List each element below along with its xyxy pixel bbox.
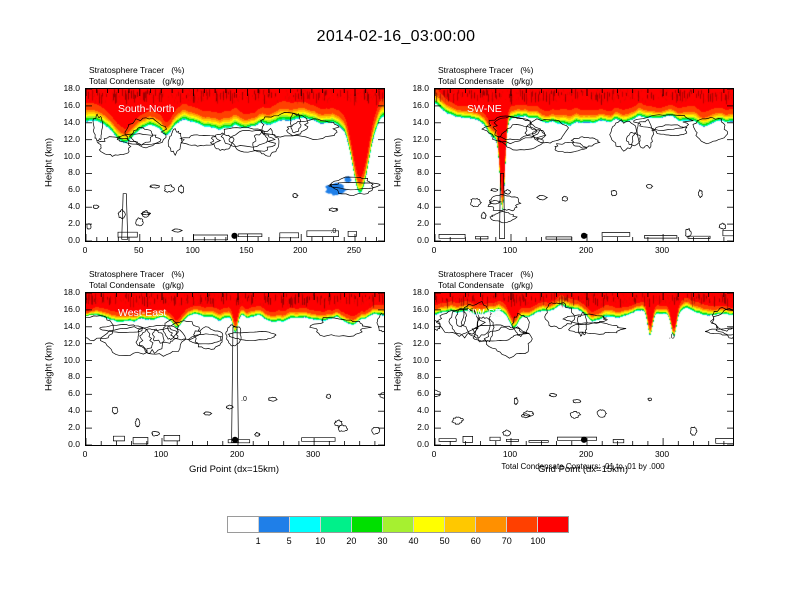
colorbar: 1510203040506070100 [227,516,569,553]
y-tick-label: 8.0 [401,371,429,381]
y-tick-label: 16.0 [401,304,429,314]
colorbar-cell-9 [506,517,537,532]
x-tick-label: 300 [655,449,669,459]
colorbar-label: 5 [287,536,292,546]
location-marker [581,437,587,443]
contour-note: Total Condensate Contours: .01 to .01 by… [501,462,664,471]
direction-label-south-north: South-North [118,103,175,115]
colorbar-cell-3 [320,517,351,532]
y-tick-label: 2.0 [401,422,429,432]
header-tracer-line: Stratosphere Tracer (%) [438,269,533,280]
colorbar-cell-4 [351,517,382,532]
colorbar-label: 10 [315,536,325,546]
colorbar-cell-5 [382,517,413,532]
direction-label-west-east: West-East [118,307,166,319]
colorbar-cell-10 [537,517,568,532]
y-tick-label: 12.0 [401,338,429,348]
colorbar-cell-1 [258,517,289,532]
colorbar-label: 30 [377,536,387,546]
direction-label-nw-se: NW-SE [467,307,502,319]
plot-area-nw-se: .0NW-SE [434,292,734,446]
colorbar-label: 1 [256,536,261,546]
colorbar-label: 40 [409,536,419,546]
y-axis-label-nw-se: Height (km) [393,317,404,417]
y-tick-label: 0.0 [401,439,429,449]
direction-label-sw-ne: SW-NE [467,103,502,115]
y-tick-label: 4.0 [401,405,429,415]
x-tick-label: 200 [579,449,593,459]
colorbar-label: 20 [346,536,356,546]
colorbar-cells [227,516,569,533]
figure-canvas: 2014-02-16_03:00:00 Stratosphere Tracer … [0,0,792,612]
colorbar-label: 50 [440,536,450,546]
colorbar-label: 70 [502,536,512,546]
colorbar-cell-0 [228,517,258,532]
panel-header-nw-se: Stratosphere Tracer (%)Total Condensate … [438,269,533,290]
colorbar-label: 100 [530,536,545,546]
y-tick-label: 14.0 [401,321,429,331]
x-tick-label: 100 [503,449,517,459]
colorbar-cell-7 [444,517,475,532]
colorbar-cell-6 [413,517,444,532]
colorbar-label: 60 [471,536,481,546]
colorbar-labels: 1510203040506070100 [227,536,569,550]
header-condensate-line: Total Condensate (g/kg) [438,280,533,291]
x-tick-label: 0 [432,449,437,459]
svg-text:.0: .0 [669,334,675,341]
y-tick-label: 10.0 [401,355,429,365]
y-tick-label: 6.0 [401,388,429,398]
y-tick-label: 18.0 [401,287,429,297]
colorbar-cell-8 [475,517,506,532]
colorbar-cell-2 [289,517,320,532]
